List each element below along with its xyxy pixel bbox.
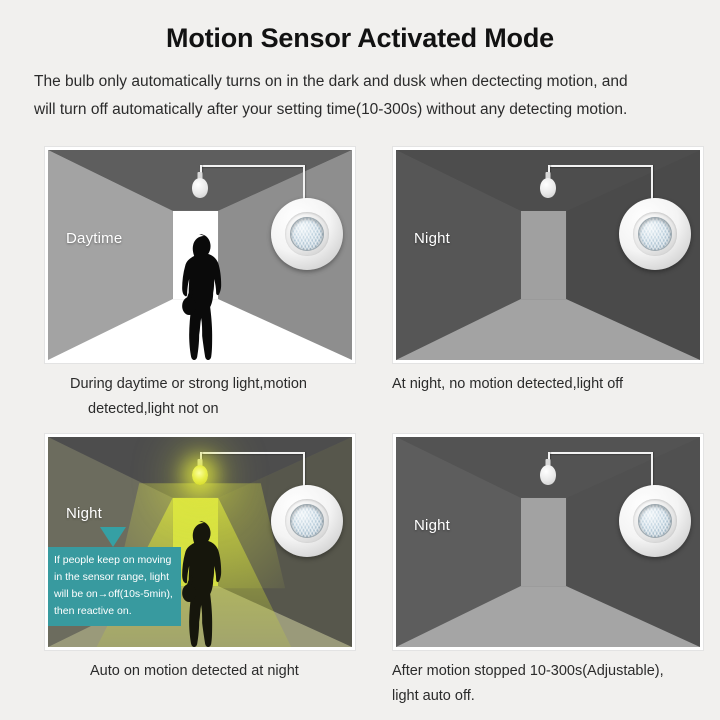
callout-line-3: will be on→off(10s-5min),	[54, 586, 175, 603]
panel-night-motion-light-on: Night If people keep on moving in the se…	[44, 433, 370, 720]
callout-line-4: then reactive on.	[54, 603, 175, 620]
caption-line-1: At night, no motion detected,light off	[392, 372, 718, 397]
page-root: Motion Sensor Activated Mode The bulb on…	[0, 0, 720, 720]
bulb-glass	[192, 178, 208, 198]
sensor-lens	[290, 217, 325, 252]
ceiling-wire-horizontal	[548, 165, 653, 167]
panel-caption: During daytime or strong light,motion de…	[44, 372, 370, 422]
scene-illustration: Night If people keep on moving in the se…	[44, 433, 356, 651]
sensor-ring	[285, 499, 328, 542]
sensor-ring	[285, 212, 328, 255]
callout-pointer-icon	[100, 527, 126, 547]
scene-label-daytime: Daytime	[66, 230, 122, 247]
description-line-1: The bulb only automatically turns on in …	[34, 68, 686, 97]
person-silhouette	[175, 521, 229, 647]
bulb-glass	[540, 178, 556, 198]
caption-line-1: During daytime or strong light,motion	[70, 372, 370, 397]
scene-label-night: Night	[414, 230, 450, 247]
caption-line-2: light auto off.	[392, 684, 718, 709]
bulb-glass	[192, 465, 208, 485]
page-description: The bulb only automatically turns on in …	[34, 68, 686, 125]
scene-illustration: Night	[392, 146, 704, 364]
header: Motion Sensor Activated Mode The bulb on…	[0, 0, 720, 125]
callout-line-2: in the sensor range, light	[54, 569, 175, 586]
scene-illustration: Night	[392, 433, 704, 651]
panel-caption: Auto on motion detected at night	[44, 659, 370, 684]
sensor-lens	[290, 504, 325, 539]
corridor-far-end	[521, 498, 567, 586]
ceiling-wire-horizontal	[200, 452, 305, 454]
page-title: Motion Sensor Activated Mode	[28, 24, 692, 54]
sensor-lens	[638, 217, 673, 252]
sensor-ring	[633, 499, 676, 542]
scene-label-night: Night	[66, 505, 102, 522]
panel-night-no-motion-light-off: Night At night, no motion detected,light…	[392, 146, 718, 433]
person-silhouette	[175, 234, 229, 360]
motion-sensor-icon	[271, 485, 343, 557]
panel-caption: After motion stopped 10-300s(Adjustable)…	[392, 659, 718, 709]
bulb-glass	[540, 465, 556, 485]
caption-line-1: Auto on motion detected at night	[90, 659, 370, 684]
scene-illustration: Daytime	[44, 146, 356, 364]
motion-sensor-icon	[271, 198, 343, 270]
callout-box: If people keep on moving in the sensor r…	[48, 547, 181, 626]
ceiling-wire-horizontal	[548, 452, 653, 454]
sensor-lens	[638, 504, 673, 539]
panel-night-motion-stopped-light-off: Night After motion stopped 10-300s(Adjus…	[392, 433, 718, 720]
corridor-far-end	[521, 211, 567, 299]
motion-sensor-icon	[619, 198, 691, 270]
description-line-2: will turn off automatically after your s…	[34, 96, 686, 125]
panel-grid: Daytime During daytime or strong light,m…	[0, 146, 720, 720]
caption-line-1: After motion stopped 10-300s(Adjustable)…	[392, 659, 718, 684]
scene-label-night: Night	[414, 517, 450, 534]
panel-daytime-motion-no-light: Daytime During daytime or strong light,m…	[44, 146, 370, 433]
callout-line-1: If people keep on moving	[54, 552, 175, 569]
ceiling-wire-horizontal	[200, 165, 305, 167]
panel-caption: At night, no motion detected,light off	[392, 372, 718, 397]
sensor-ring	[633, 212, 676, 255]
caption-line-2: detected,light not on	[70, 397, 370, 422]
motion-sensor-icon	[619, 485, 691, 557]
